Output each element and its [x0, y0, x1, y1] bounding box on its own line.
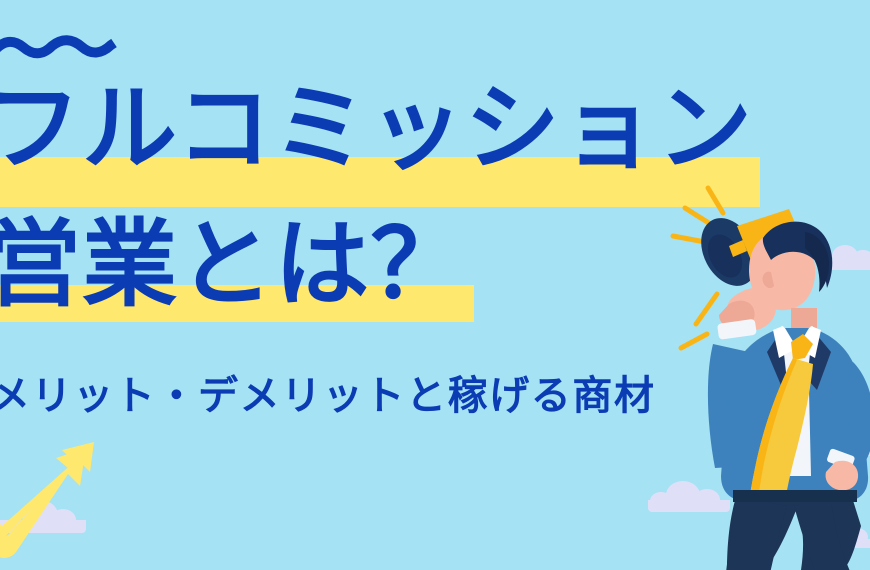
page-subtitle: メリット・デメリットと稼げる商材 — [0, 376, 656, 416]
page-title-line1: フルコミッション — [0, 82, 753, 177]
banner-canvas: フルコミッション 営業とは？ メリット・デメリットと稼げる商材 — [0, 0, 870, 570]
wavy-underline-icon — [0, 33, 124, 63]
page-title-line2: 営業とは？ — [0, 218, 467, 313]
growth-arrow-icon — [0, 440, 122, 560]
trousers — [715, 490, 870, 570]
businessman-with-megaphone-illustration — [655, 176, 870, 570]
